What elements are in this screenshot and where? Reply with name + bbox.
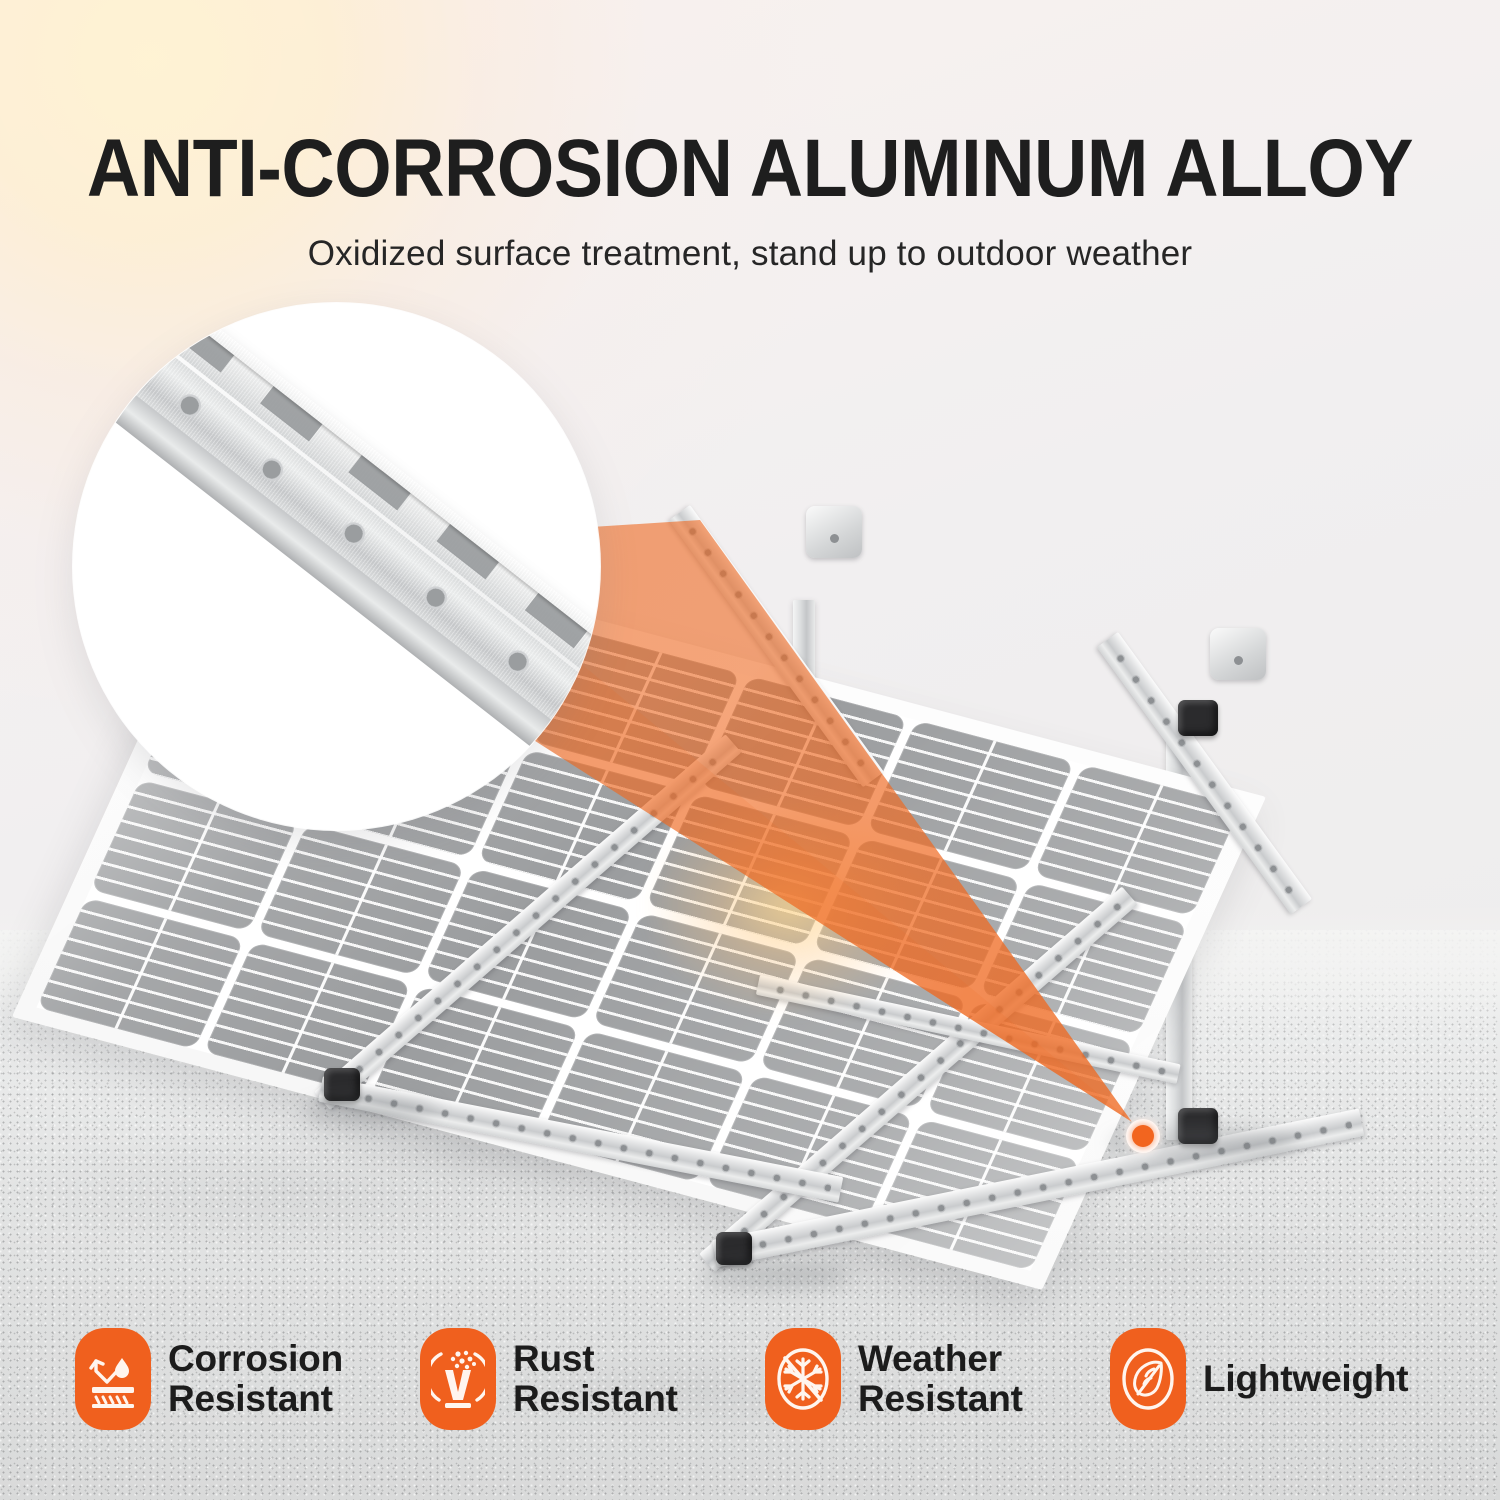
badge-label: Weather Resistant (858, 1339, 1023, 1419)
tilt-adjust-knob-upper (1178, 700, 1218, 736)
badge-corrosion-resistant: Corrosion Resistant (75, 1328, 343, 1430)
badge-label: Lightweight (1203, 1359, 1408, 1399)
badge-label: Rust Resistant (513, 1339, 678, 1419)
badge-lightweight: Lightweight (1110, 1328, 1408, 1430)
foot-hinge-knob-right (716, 1232, 752, 1265)
anodized-aluminum-rail (73, 303, 600, 830)
upper-rail-end-bracket-left (806, 506, 862, 558)
aluminum-rail-closeup-magnifier (73, 303, 600, 830)
badge-rust-resistant: Rust Resistant (420, 1328, 678, 1430)
feature-badge-row: Corrosion Resistant Rust Resistan (0, 1328, 1500, 1468)
badge-weather-resistant: Weather Resistant (765, 1328, 1023, 1430)
lightweight-icon (1110, 1328, 1186, 1430)
badge-label: Corrosion Resistant (168, 1339, 343, 1419)
beam-focus-point (1126, 1119, 1160, 1153)
weather-resistant-icon (765, 1328, 841, 1430)
foot-shadow-right (700, 1262, 850, 1290)
foot-shadow-left (306, 1098, 436, 1124)
corrosion-resistant-icon (75, 1328, 151, 1430)
product-marketing-image: ANTI-CORROSION ALUMINUM ALLOY Oxidized s… (0, 0, 1500, 1500)
rust-resistant-icon (420, 1328, 496, 1430)
upper-rail-end-bracket-right (1210, 628, 1266, 680)
foot-hinge-knob-left (324, 1068, 360, 1101)
